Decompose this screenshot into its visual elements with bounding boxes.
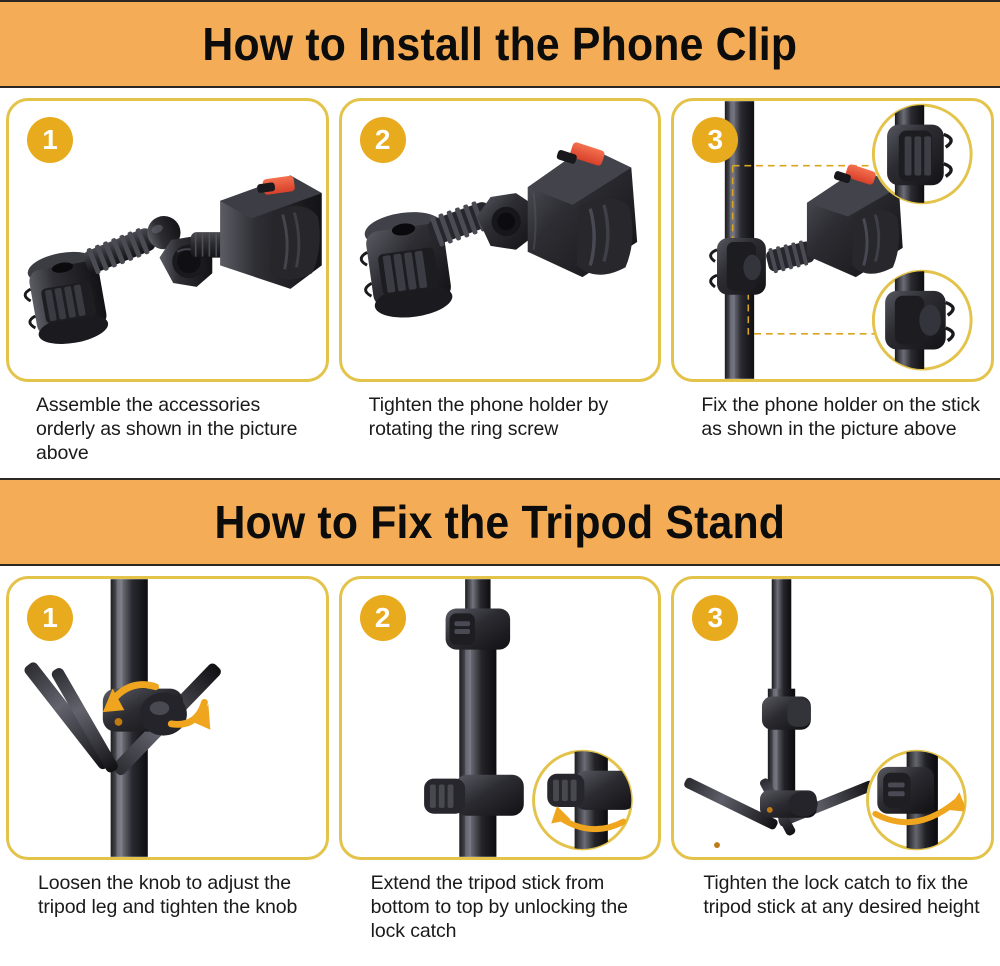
step-cell-1: 1 <box>6 98 329 466</box>
step-badge-2: 2 <box>360 117 406 163</box>
detail-callout-lock-catch <box>533 747 635 855</box>
step-caption-3: Fix the phone holder on the stick as sho… <box>671 382 994 442</box>
step-badge-6: 3 <box>692 595 738 641</box>
step-caption-6: Tighten the lock catch to fix the tripod… <box>671 860 994 920</box>
step-caption-2: Tighten the phone holder by rotating the… <box>339 382 662 442</box>
section-title: How to Install the Phone Clip <box>203 21 798 67</box>
section-banner-install-phone-clip: How to Install the Phone Clip <box>0 0 1000 88</box>
step-cell-4: 1 <box>6 576 329 944</box>
infographic-page: How to Install the Phone Clip 1 <box>0 0 1000 966</box>
steps-row-install: 1 <box>0 98 1000 466</box>
step-cell-6: 3 <box>671 576 994 944</box>
detail-callout-bottom <box>874 267 972 375</box>
section-title: How to Fix the Tripod Stand <box>215 499 786 545</box>
step-panel-5: 2 <box>339 576 662 860</box>
detail-callout-tighten <box>868 747 968 855</box>
steps-row-tripod: 1 <box>0 576 1000 944</box>
step-panel-3: 3 <box>671 98 994 382</box>
step-panel-6: 3 <box>671 576 994 860</box>
step-caption-4: Loosen the knob to adjust the tripod leg… <box>6 860 329 920</box>
section-banner-fix-tripod-stand: How to Fix the Tripod Stand <box>0 478 1000 566</box>
step-badge-5: 2 <box>360 595 406 641</box>
step-panel-1: 1 <box>6 98 329 382</box>
step-badge-4: 1 <box>27 595 73 641</box>
step-panel-4: 1 <box>6 576 329 860</box>
step-cell-2: 2 <box>339 98 662 466</box>
step-cell-5: 2 <box>339 576 662 944</box>
step-panel-2: 2 <box>339 98 662 382</box>
step-badge-1: 1 <box>27 117 73 163</box>
step-caption-1: Assemble the accessories orderly as show… <box>6 382 329 466</box>
step-cell-3: 3 <box>671 98 994 466</box>
step-caption-5: Extend the tripod stick from bottom to t… <box>339 860 662 944</box>
